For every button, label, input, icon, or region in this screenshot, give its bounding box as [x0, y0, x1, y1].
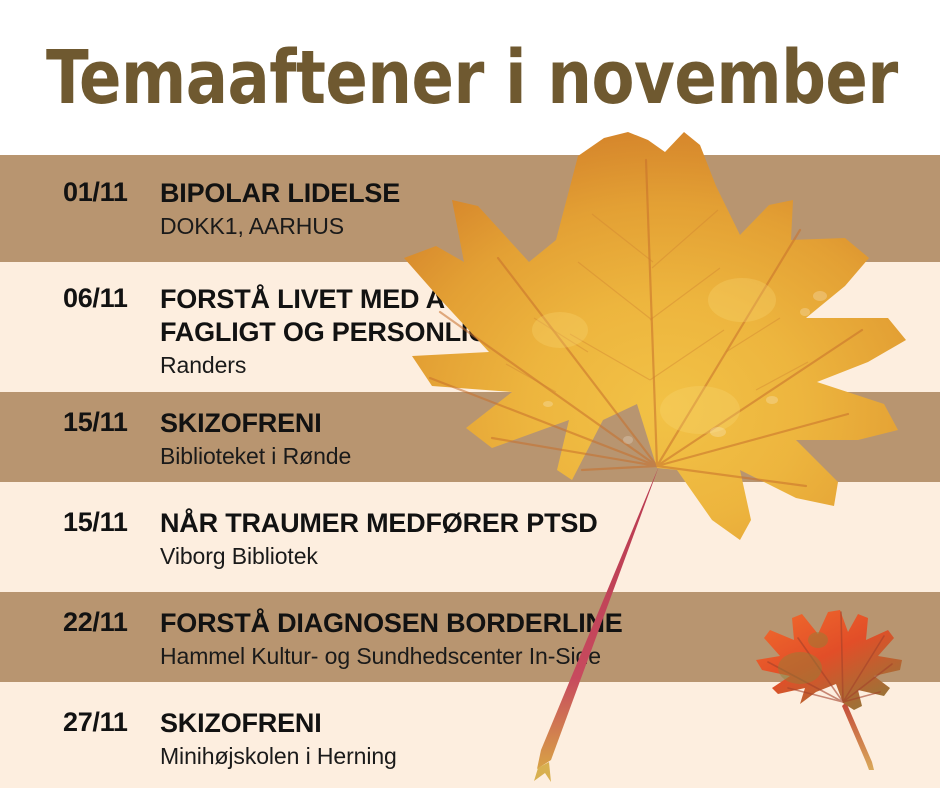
- row-info: NÅR TRAUMER MEDFØRER PTSD Viborg Bibliot…: [160, 507, 940, 571]
- row-date: 15/11: [0, 507, 160, 538]
- row-venue: DOKK1, AARHUS: [160, 212, 930, 241]
- row-title: FORSTÅ LIVET MED AUTISME UD FRA ET FAGLI…: [160, 283, 930, 349]
- row-date: 27/11: [0, 707, 160, 738]
- schedule-row[interactable]: 06/11 FORSTÅ LIVET MED AUTISME UD FRA ET…: [0, 262, 940, 392]
- row-date: 15/11: [0, 407, 160, 438]
- row-info: FORSTÅ DIAGNOSEN BORDERLINE Hammel Kultu…: [160, 607, 940, 671]
- schedule-row[interactable]: 01/11 BIPOLAR LIDELSE DOKK1, AARHUS: [0, 155, 940, 262]
- row-date: 01/11: [0, 177, 160, 208]
- row-info: SKIZOFRENI Minihøjskolen i Herning: [160, 707, 940, 771]
- row-title: NÅR TRAUMER MEDFØRER PTSD: [160, 507, 930, 540]
- row-venue: Viborg Bibliotek: [160, 542, 930, 571]
- poster-canvas: Temaaftener i november 01/11 BIPOLAR LID…: [0, 0, 940, 788]
- schedule-row[interactable]: 15/11 SKIZOFRENI Biblioteket i Rønde: [0, 392, 940, 482]
- poster-header: Temaaftener i november: [0, 0, 940, 155]
- row-date: 22/11: [0, 607, 160, 638]
- schedule-list: 01/11 BIPOLAR LIDELSE DOKK1, AARHUS 06/1…: [0, 155, 940, 788]
- row-title: SKIZOFRENI: [160, 707, 930, 740]
- row-info: FORSTÅ LIVET MED AUTISME UD FRA ET FAGLI…: [160, 283, 940, 380]
- row-title: SKIZOFRENI: [160, 407, 930, 440]
- row-venue: Hammel Kultur- og Sundhedscenter In-Side: [160, 642, 930, 671]
- schedule-row[interactable]: 15/11 NÅR TRAUMER MEDFØRER PTSD Viborg B…: [0, 482, 940, 592]
- schedule-row[interactable]: 27/11 SKIZOFRENI Minihøjskolen i Herning: [0, 682, 940, 788]
- row-title: BIPOLAR LIDELSE: [160, 177, 930, 210]
- schedule-row[interactable]: 22/11 FORSTÅ DIAGNOSEN BORDERLINE Hammel…: [0, 592, 940, 682]
- row-venue: Biblioteket i Rønde: [160, 442, 930, 471]
- row-info: SKIZOFRENI Biblioteket i Rønde: [160, 407, 940, 471]
- row-date: 06/11: [0, 283, 160, 314]
- row-venue: Minihøjskolen i Herning: [160, 742, 930, 771]
- row-venue: Randers: [160, 351, 930, 380]
- page-title: Temaaftener i november: [46, 41, 898, 115]
- row-title: FORSTÅ DIAGNOSEN BORDERLINE: [160, 607, 930, 640]
- row-info: BIPOLAR LIDELSE DOKK1, AARHUS: [160, 177, 940, 241]
